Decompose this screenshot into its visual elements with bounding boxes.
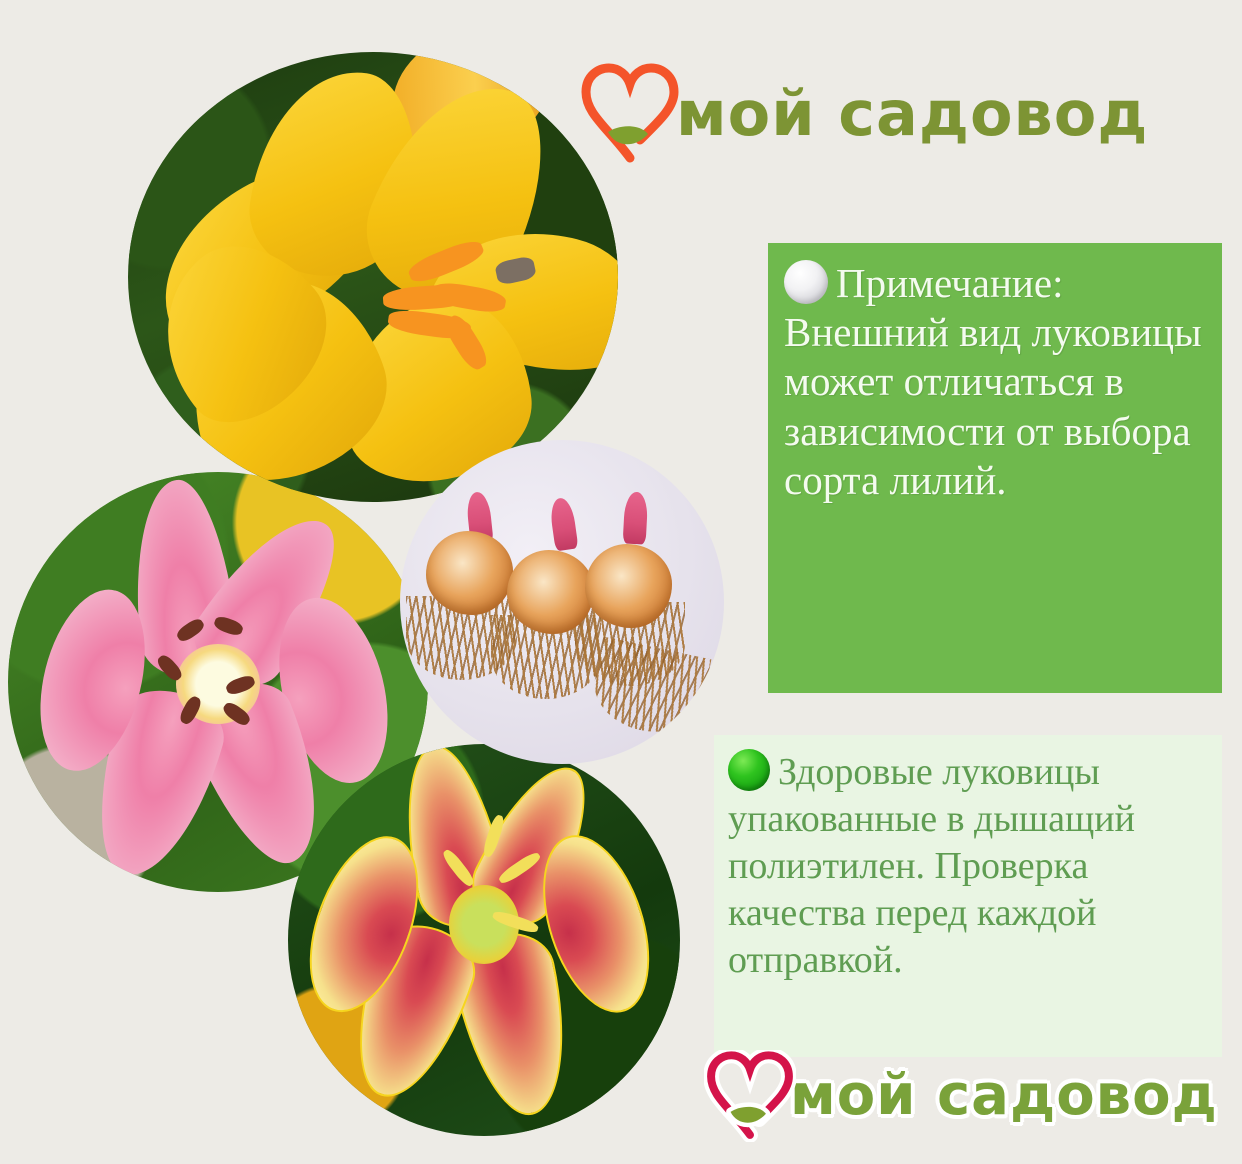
green-sphere-bullet-icon <box>728 749 770 791</box>
note-secondary-text: Здоровые луковицы упакованные в дышащий … <box>728 751 1135 981</box>
heart-with-leaf-icon <box>704 1050 796 1142</box>
note-primary-body: Примечание: Внешний вид луковицы может о… <box>784 259 1208 505</box>
photo-bicolor-lily <box>288 744 680 1136</box>
photo-lily-bulbs <box>400 440 724 764</box>
note-secondary-body: Здоровые луковицы упакованные в дышащий … <box>728 749 1210 985</box>
note-primary-text: Примечание: Внешний вид луковицы может о… <box>784 260 1202 503</box>
note-secondary: Здоровые луковицы упакованные в дышащий … <box>714 735 1222 1057</box>
poster-canvas: мой садовод Примечание: Внешний вид луко… <box>0 0 1242 1164</box>
brand-logo-bottom: мой садовод <box>704 1050 1218 1142</box>
lily-bulb <box>585 544 672 628</box>
white-sphere-bullet-icon <box>784 260 828 304</box>
brand-logo-top: мой садовод <box>578 62 1148 166</box>
lily-bulb <box>426 531 513 615</box>
heart-with-leaf-icon <box>578 62 682 166</box>
brand-name-top: мой садовод <box>676 83 1148 145</box>
brand-name-bottom: мой садовод <box>790 1068 1218 1124</box>
photo-yellow-lily <box>128 52 618 502</box>
lily-bulb <box>507 550 594 634</box>
note-primary: Примечание: Внешний вид луковицы может о… <box>768 243 1222 693</box>
